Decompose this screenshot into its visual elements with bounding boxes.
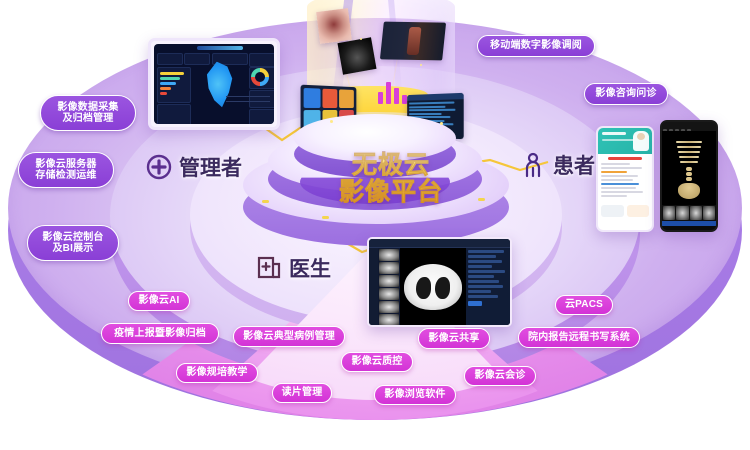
feature-pill[interactable]: 影像云控制台 及BI展示 [27, 225, 119, 261]
feature-pill[interactable]: 影像云会诊 [464, 366, 536, 386]
bi-dashboard-monitor [148, 38, 280, 130]
feature-pill[interactable]: 影像云服务器 存储检测运维 [18, 152, 114, 188]
feature-pill[interactable]: 移动端数字影像调阅 [477, 35, 595, 57]
feature-pill[interactable]: 疫情上报暨影像归档 [101, 323, 219, 344]
feature-pill[interactable]: 影像数据采集 及归档管理 [40, 95, 136, 131]
plus-circle-icon [146, 154, 172, 180]
sparkle [420, 64, 422, 66]
feature-pill[interactable]: 院内报告远程书写系统 [518, 327, 640, 348]
feature-pill[interactable]: 影像云质控 [341, 352, 413, 372]
role-doctor-label: 医生 [289, 253, 331, 283]
endoscopy-thumbnail [316, 8, 352, 44]
sparkle [330, 120, 333, 123]
ultrasound-thumbnail [337, 37, 376, 74]
feature-pill[interactable]: 影像咨询问诊 [584, 83, 668, 105]
role-doctor[interactable]: 医生 [256, 253, 331, 283]
page-title: 无极云 影像平台 [316, 152, 466, 206]
document-plus-icon [256, 255, 282, 281]
pedestal-dash-1 [262, 200, 269, 203]
role-patient[interactable]: 患者 [520, 150, 595, 180]
feature-pill[interactable]: 影像浏览软件 [374, 385, 456, 405]
title-line-2: 影像平台 [316, 179, 466, 206]
role-manager[interactable]: 管理者 [146, 152, 242, 182]
role-manager-label: 管理者 [179, 152, 242, 182]
sparkle [440, 122, 443, 125]
pedestal-dash-2 [322, 216, 329, 219]
ct-viewer-screen [367, 237, 512, 327]
sparkle [360, 38, 362, 40]
feature-pill[interactable]: 读片管理 [272, 383, 332, 403]
role-patient-label: 患者 [553, 150, 595, 180]
mri-viewer-thumbnail [380, 22, 446, 61]
ct-3d-skeleton-phone [660, 120, 718, 232]
feature-pill[interactable]: 影像云AI [128, 291, 190, 311]
feature-pill[interactable]: 云PACS [555, 295, 613, 315]
infographic-canvas: 无极云 影像平台 [0, 0, 750, 450]
title-line-1: 无极云 [316, 152, 466, 179]
feature-pill[interactable]: 影像云典型病例管理 [233, 326, 345, 347]
pedestal-dash-3 [478, 198, 485, 201]
feature-pill[interactable]: 影像云共享 [418, 328, 490, 349]
patient-report-phone [596, 126, 654, 232]
person-icon [520, 152, 546, 178]
feature-pill[interactable]: 影像规培教学 [176, 363, 258, 383]
